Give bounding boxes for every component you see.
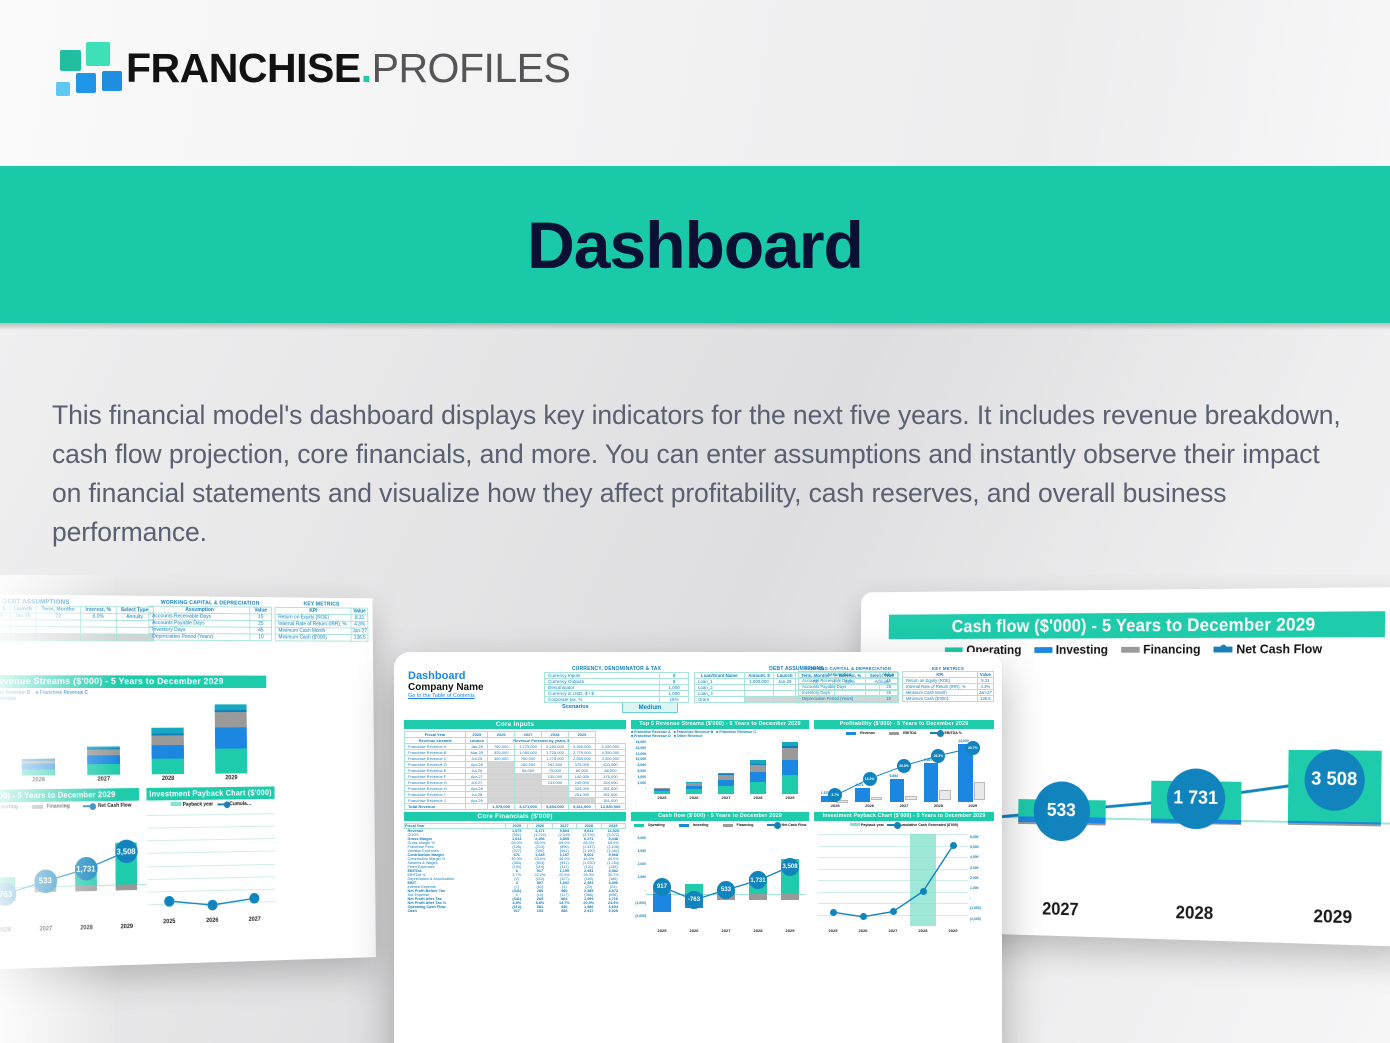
key-metrics-table: KPIValueReturn on Equity (ROE)8.31Intern… — [275, 607, 369, 642]
brand-logo[interactable]: FRANCHISE.PROFILES — [52, 40, 570, 96]
payback-chart-title-left: Investment Payback Chart ($'000) — [146, 786, 274, 800]
axis-tick: (2,000) — [630, 910, 646, 923]
bar-segment — [215, 712, 247, 728]
axis-tick: 1,000 — [630, 871, 646, 884]
payback-legend-front: Payback year Cumulative Cash Generated (… — [814, 823, 994, 827]
currency-block: CURRENCY, DENOMINATOR & TAX Currency Inp… — [544, 666, 689, 703]
working-capital-title: WORKING CAPITAL & DEPRECIATION — [148, 600, 272, 607]
top5-x-axis-front: 20252026202720282029 — [646, 795, 806, 800]
bar-segment — [718, 774, 734, 775]
axis-tick: 2027 — [995, 898, 1127, 922]
core-inputs-title: Core Inputs — [404, 720, 626, 729]
axis-tick: 2,000 — [630, 858, 646, 871]
data-label: 3 508 — [1304, 749, 1365, 811]
table-row: Minimum Cash ($'000)136.5 — [903, 696, 994, 702]
axis-tick: 4,000 — [970, 852, 996, 862]
bar-segment — [152, 758, 184, 774]
bar-ebitda — [939, 790, 951, 800]
axis-tick: 2028 — [1127, 901, 1263, 925]
bar-segment — [87, 746, 119, 748]
top5-x-axis: 20252026202720282029 — [0, 775, 263, 784]
profitability-plot: 1,5753.7%3,47113.2%5,85420.5%9,66726.3%1… — [818, 742, 990, 802]
table-row: Internal Rate of Return (IRR), %4.3% — [275, 621, 368, 628]
bar-segment — [718, 775, 734, 780]
screenshot-stage: & TAX $$1,0001,00015% DEBT ASSUMPTIONS L… — [0, 575, 1390, 1043]
core-inputs-table: Fiscal Year20252026202720282029Revenue s… — [404, 731, 626, 810]
data-label-pct: 13.2% — [863, 772, 877, 786]
payback-legend-left: Payback year Cumula… — [147, 801, 275, 809]
bar-segment — [718, 773, 734, 774]
bar-revenue — [924, 763, 938, 802]
axis-tick: - — [970, 893, 996, 903]
payback-plot-front — [818, 834, 968, 926]
bar-investing — [75, 885, 97, 891]
brand-name-light: PROFILES — [372, 45, 571, 91]
debt-table: Loan/Grant NameAmount, $LaunchTerm, Mont… — [0, 604, 154, 641]
top5-title-front: Top 5 Revenue Streams ($'000) - 5 Years … — [631, 720, 809, 729]
brand-dot: . — [361, 45, 372, 91]
page-description: This financial model's dashboard display… — [52, 396, 1342, 552]
axis-tick: 2029 — [1263, 905, 1390, 930]
company-name: Company Name — [408, 682, 484, 693]
top5-legend: ■ Franchise Revenue A ■ Franchise Revenu… — [0, 690, 266, 702]
profitability-x-axis: 20252026202720282029 — [818, 803, 990, 808]
bar-ebitda — [871, 797, 883, 800]
bar-ebitda — [905, 796, 917, 800]
bar-segment — [718, 780, 734, 786]
bar-segment — [152, 745, 184, 759]
bar-segment — [750, 765, 766, 772]
bar-segment — [215, 710, 246, 712]
working-capital-block: WORKING CAPITAL & DEPRECIATION Assumptio… — [798, 666, 898, 702]
bar-segment — [152, 728, 184, 734]
bar-segment — [782, 775, 798, 794]
page-header: FRANCHISE.PROFILES — [0, 0, 1390, 166]
bar-ebitda — [974, 782, 986, 800]
bar-segment — [654, 789, 670, 791]
table-row: Depreciation Period (Years)10 — [799, 696, 898, 702]
bar-segment — [22, 760, 55, 764]
axis-tick: (2,000) — [970, 914, 996, 924]
data-label: 533 — [717, 881, 735, 899]
profitability-title: Profitability ($'000) - 5 Years to Decem… — [814, 720, 994, 729]
bar-segment — [718, 786, 734, 794]
brand-wordmark: FRANCHISE.PROFILES — [126, 48, 570, 89]
data-label-pct: 30.7% — [966, 741, 980, 755]
wc-title: WORKING CAPITAL & DEPRECIATION — [798, 666, 898, 671]
bar-segment — [686, 789, 702, 794]
bar-segment — [782, 742, 798, 746]
page-banner: Dashboard — [0, 166, 1390, 323]
payback-plot-left — [147, 813, 276, 917]
toc-link[interactable]: Go to the Table of Contents — [408, 693, 484, 699]
bar-segment — [22, 769, 55, 776]
top5-legend-front: ■ Franchise Revenue A ■ Franchise Revenu… — [631, 730, 809, 738]
bar-segment — [87, 748, 119, 749]
axis-tick: 5,000 — [970, 842, 996, 852]
scenario-label: Scenarios — [562, 704, 589, 710]
table-row: Grant — [0, 633, 154, 641]
bar-segment — [152, 735, 184, 745]
bar-segment — [782, 748, 798, 760]
bar-segment — [782, 746, 798, 748]
bar-segment — [686, 783, 702, 786]
payback-x-axis-left: 202520262027 — [148, 916, 276, 925]
logo-squares-icon — [52, 40, 108, 96]
bar-segment — [686, 782, 702, 783]
payback-title-front: Investment Payback Chart ($'000) - 5 Yea… — [814, 812, 994, 821]
axis-tick: (1,000) — [970, 903, 996, 913]
table-row: Minimum Cash ($'000)136.5 — [275, 634, 368, 641]
core-financials-title: Core Financials ($'000) — [404, 812, 626, 821]
bar-segment — [654, 791, 670, 794]
bar-revenue — [890, 779, 904, 802]
data-label-pct: 26.3% — [931, 749, 945, 763]
bar-segment — [686, 782, 702, 783]
bar-segment — [750, 764, 766, 765]
cashflow-legend-left: Operating Investing Financing Net Cash F… — [0, 803, 139, 812]
core-financials-table: Fiscal Year20252026202720282029Revenue1,… — [404, 823, 626, 913]
bar-segment — [215, 704, 246, 710]
bar-segment — [654, 788, 670, 789]
top5-y-ticks-front: 16,00014,00012,00010,0008,0006,0004,0002… — [628, 740, 646, 792]
bar-segment — [686, 786, 702, 790]
cashflow-chart-title-left: Cash flow ($'000) - 5 Years to December … — [0, 788, 139, 803]
bar-segment — [87, 755, 119, 764]
data-label-revenue: 5,854 — [890, 774, 899, 778]
front-dashboard-card[interactable]: Dashboard Company Name Go to the Table o… — [394, 652, 1002, 1043]
bar-segment — [87, 749, 119, 755]
top5-plot-front — [646, 742, 806, 794]
bar-investing — [115, 884, 137, 890]
profitability-legend: Revenue EBITDA EBITDA % — [814, 731, 994, 735]
cashflow-plot-left: 917-7635331,7313,508 — [0, 814, 147, 926]
legend-investing: Investing — [1034, 642, 1108, 657]
data-label: 3,508 — [781, 858, 799, 876]
data-label-revenue: 3,471 — [855, 783, 864, 787]
axis-tick: 4,000 — [630, 832, 646, 845]
axis-tick: 3,000 — [970, 863, 996, 873]
left-preview-panel[interactable]: & TAX $$1,0001,00015% DEBT ASSUMPTIONS L… — [0, 593, 376, 973]
payback-y-ticks-front: 6,0005,0004,0003,0002,0001,000-(1,000)(2… — [970, 832, 996, 924]
axis-tick: 2,000 — [970, 873, 996, 883]
axis-tick: 3,000 — [630, 845, 646, 858]
data-label: -763 — [685, 891, 703, 909]
cashflow-plot-front: 917-7635331,7313,508 — [646, 834, 806, 926]
bar-segment — [782, 760, 798, 776]
cashflow-x-axis-left: 20252026202720282029 — [0, 924, 147, 936]
legend-net-cash-flow: Net Cash Flow — [1214, 641, 1323, 656]
cashflow-x-axis-front: 20252026202720282029 — [646, 928, 806, 933]
bar-segment — [215, 748, 247, 773]
axis-tick: 6,000 — [970, 832, 996, 842]
cumulative-cash-line — [818, 834, 968, 926]
data-label: 1 731 — [1166, 768, 1225, 829]
working-capital-table: AssumptionValueAccounts Receivable Days1… — [148, 606, 272, 642]
cumulative-cash-line — [147, 813, 276, 917]
bar-segment — [215, 728, 247, 749]
bar-revenue — [855, 788, 869, 802]
data-label: 533 — [1033, 781, 1090, 841]
data-label-pct: 20.5% — [897, 759, 911, 773]
payback-x-axis-front: 20252026202720282029 — [818, 928, 968, 933]
bar-segment — [87, 764, 119, 775]
table-row: Corporate tax, %15% — [545, 697, 689, 703]
top5-chart-plot — [0, 704, 263, 776]
page-title: Dashboard — [527, 212, 863, 278]
axis-tick: - — [630, 884, 646, 897]
cashflow-legend-front: Operating Investing Financing Net Cash F… — [631, 823, 809, 827]
axis-tick: - — [628, 786, 646, 792]
sheet-title: Dashboard — [408, 670, 484, 682]
bar-investing — [781, 894, 799, 900]
axis-tick: 1,000 — [970, 883, 996, 893]
bar-segment — [750, 782, 766, 794]
bar-segment — [22, 764, 55, 769]
bar-segment — [750, 772, 766, 782]
data-label: 533 — [34, 869, 57, 893]
legend-financing: Financing — [1121, 642, 1201, 657]
cashflow-chart-title: Cash flow ($'000) - 5 Years to December … — [889, 611, 1385, 639]
scenario-select[interactable]: Medium — [622, 702, 678, 713]
key-metrics-block: KEY METRICS KPIValueReturn on Equity (RO… — [902, 666, 994, 702]
cashflow-y-ticks-front: 4,0003,0002,0001,000-(1,000)(2,000) — [630, 832, 646, 923]
cashflow-title-front: Cash flow ($'000) - 5 Years to December … — [631, 812, 809, 821]
sheet-header: Dashboard Company Name Go to the Table o… — [408, 670, 484, 699]
bar-investing — [749, 894, 767, 900]
axis-tick: (1,000) — [630, 897, 646, 910]
table-row: Minimum Cash MonthJan-27 — [275, 627, 368, 634]
brand-name-bold: FRANCHISE — [126, 45, 361, 91]
top5-chart-title: Top 5 Revenue Streams ($'000) - 5 Years … — [0, 675, 266, 688]
data-label: 3,508 — [115, 840, 138, 864]
table-row: Depreciation Period (Years)10 — [149, 633, 272, 640]
bar-segment — [750, 760, 766, 764]
data-label: 917 — [653, 878, 671, 896]
banner-shadow — [0, 323, 1390, 330]
bar-segment — [152, 734, 184, 736]
bar-financing — [1287, 823, 1380, 826]
bar-investing — [653, 894, 671, 912]
table-row: Cash9171546862,9175,925 — [405, 909, 626, 913]
